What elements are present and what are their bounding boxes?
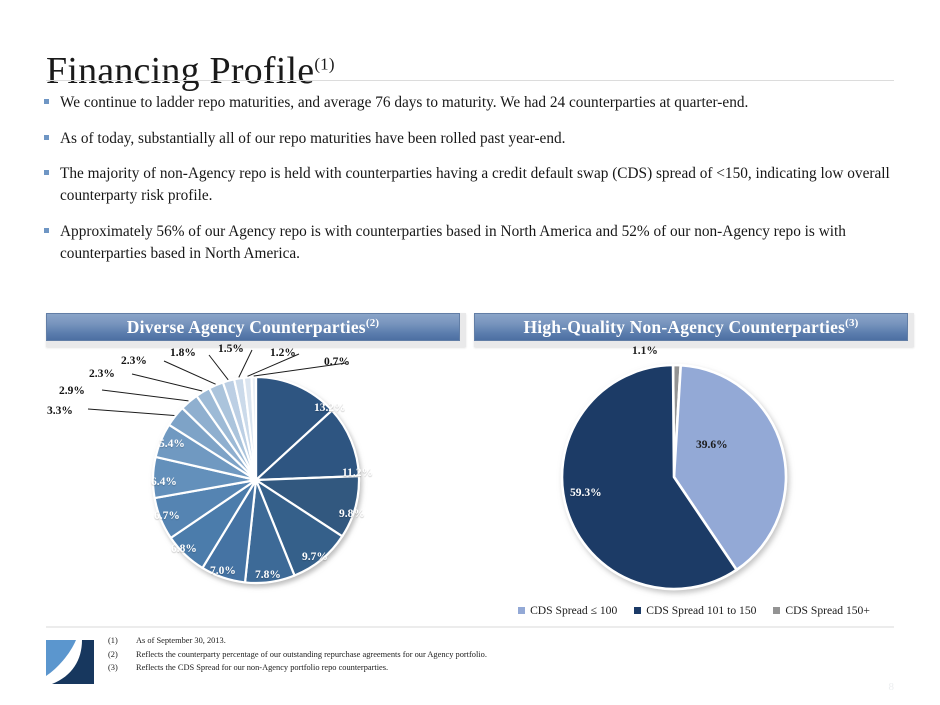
footnote-number: (1): [108, 634, 136, 648]
leader-line: [132, 374, 202, 391]
footnote-number: (2): [108, 648, 136, 662]
agency-callout-15: 1.8%: [170, 347, 196, 359]
agency-banner-title: Diverse Agency Counterparties(2): [127, 317, 380, 338]
footnote-text: As of September 30, 2013.: [136, 634, 226, 648]
non-agency-counterparties-panel: High-Quality Non-Agency Counterparties(3…: [474, 313, 914, 607]
agency-slice-label-3: 9.8%: [339, 508, 365, 520]
agency-slice-label-4: 9.7%: [302, 551, 328, 563]
footer-divider: [46, 626, 894, 628]
page-title-superscript: (1): [314, 55, 334, 74]
bullet-square-icon: [44, 128, 60, 140]
agency-slice-label-6: 7.0%: [210, 565, 236, 577]
footnote-text: Reflects the counterparty percentage of …: [136, 648, 487, 662]
legend-swatch-icon: [518, 607, 525, 614]
non-agency-banner-fill: High-Quality Non-Agency Counterparties(3…: [474, 313, 908, 341]
title-divider: [46, 80, 894, 81]
agency-banner-fill: Diverse Agency Counterparties(2): [46, 313, 460, 341]
bullet-item: Approximately 56% of our Agency repo is …: [44, 221, 896, 264]
leader-line: [88, 409, 174, 416]
agency-banner: Diverse Agency Counterparties(2): [46, 313, 466, 347]
agency-slice-label-8: 6.7%: [154, 510, 180, 522]
non-agency-slice-label-1: 39.6%: [696, 439, 728, 451]
bullet-item: As of today, substantially all of our re…: [44, 128, 896, 150]
footnote-number: (3): [108, 661, 136, 675]
legend-label: CDS Spread ≤ 100: [530, 604, 617, 617]
non-agency-pie-area: 39.6% 59.3% 1.1%: [474, 347, 914, 607]
legend-swatch-icon: [634, 607, 641, 614]
bullet-square-icon: [44, 163, 60, 175]
agency-slice-label-7: 6.8%: [171, 543, 197, 555]
footnote-text: Reflects the CDS Spread for our non-Agen…: [136, 661, 388, 675]
bullet-square-icon: [44, 221, 60, 233]
agency-slice-label-2: 11.2%: [342, 467, 373, 479]
leader-line: [209, 355, 228, 380]
page-title-text: Financing Profile: [46, 50, 314, 92]
footnote-item: (3) Reflects the CDS Spread for our non-…: [108, 661, 808, 675]
legend-item-cds-150-plus: CDS Spread 150+: [773, 604, 869, 617]
agency-callout-14: 2.3%: [121, 355, 147, 367]
legend-swatch-icon: [773, 607, 780, 614]
non-agency-pie-chart: [474, 347, 914, 607]
agency-pie-area: 13.2% 11.2% 9.8% 9.7% 7.8% 7.0% 6.8% 6.7…: [46, 347, 466, 617]
footnote-item: (1) As of September 30, 2013.: [108, 634, 808, 648]
non-agency-banner-title: High-Quality Non-Agency Counterparties(3…: [523, 317, 858, 338]
slide: Financing Profile(1) We continue to ladd…: [0, 0, 940, 705]
agency-slice-label-5: 7.8%: [255, 569, 281, 581]
bullet-item: We continue to ladder repo maturities, a…: [44, 92, 896, 114]
non-agency-slice-label-3: 1.1%: [632, 345, 658, 357]
agency-counterparties-panel: Diverse Agency Counterparties(2) 13.2% 1…: [46, 313, 466, 617]
bullet-text: The majority of non-Agency repo is held …: [60, 163, 896, 206]
footnote-list: (1) As of September 30, 2013. (2) Reflec…: [108, 634, 808, 675]
non-agency-pie-slices: [562, 365, 786, 589]
page-number: 8: [889, 681, 895, 693]
legend-label: CDS Spread 101 to 150: [646, 604, 756, 617]
agency-slice-label-9: 6.4%: [151, 476, 177, 488]
bullet-text: As of today, substantially all of our re…: [60, 128, 896, 150]
leader-line: [102, 390, 189, 401]
bullet-square-icon: [44, 92, 60, 104]
non-agency-legend: CDS Spread ≤ 100 CDS Spread 101 to 150 C…: [474, 604, 914, 617]
legend-item-cds-100: CDS Spread ≤ 100: [518, 604, 617, 617]
agency-callout-13: 2.3%: [89, 368, 115, 380]
leader-line: [164, 361, 216, 384]
bullet-text: Approximately 56% of our Agency repo is …: [60, 221, 896, 264]
company-logo-icon: [46, 638, 94, 686]
agency-callout-16: 1.5%: [218, 343, 244, 355]
bullet-list: We continue to ladder repo maturities, a…: [44, 92, 896, 278]
non-agency-slice-label-2: 59.3%: [570, 487, 602, 499]
agency-callout-17: 1.2%: [270, 347, 296, 359]
bullet-text: We continue to ladder repo maturities, a…: [60, 92, 896, 114]
page-title: Financing Profile(1): [46, 51, 335, 93]
legend-item-cds-101-150: CDS Spread 101 to 150: [634, 604, 756, 617]
agency-callout-12: 2.9%: [59, 385, 85, 397]
bullet-item: The majority of non-Agency repo is held …: [44, 163, 896, 206]
agency-slice-label-10: 5.4%: [159, 438, 185, 450]
agency-slice-label-1: 13.2%: [314, 402, 346, 414]
legend-label: CDS Spread 150+: [785, 604, 869, 617]
agency-callout-11: 3.3%: [47, 405, 73, 417]
non-agency-banner: High-Quality Non-Agency Counterparties(3…: [474, 313, 914, 347]
footnote-item: (2) Reflects the counterparty percentage…: [108, 648, 808, 662]
agency-callout-18: 0.7%: [324, 356, 350, 368]
